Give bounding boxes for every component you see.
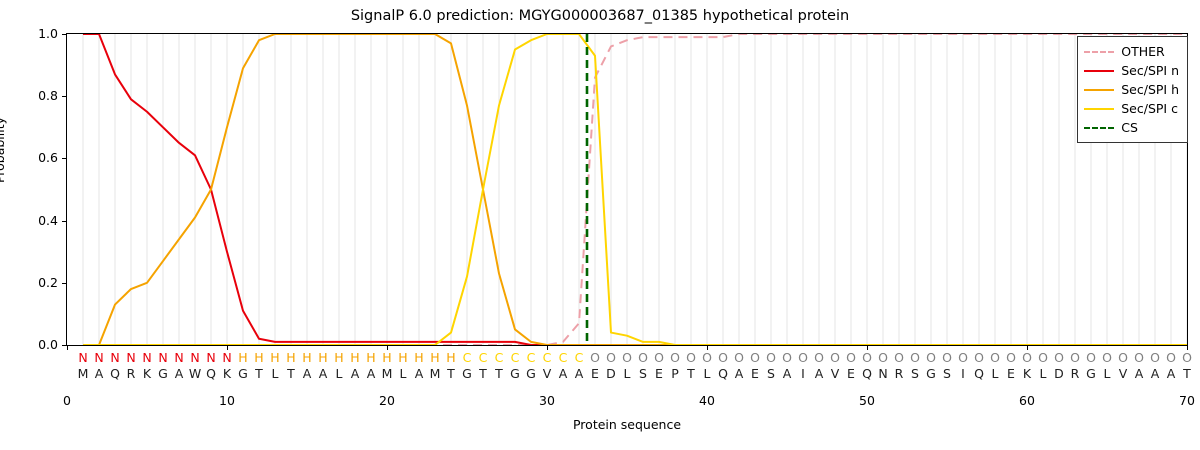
signalp-plot-figure: SignalP 6.0 prediction: MGYG000003687_01… [0, 0, 1200, 450]
plot-inner [67, 34, 1187, 345]
chart-canvas [67, 34, 1187, 345]
chart-title: SignalP 6.0 prediction: MGYG000003687_01… [0, 8, 1200, 24]
x-tick-mark [67, 346, 68, 350]
legend-swatch [1084, 89, 1114, 91]
x-tick-label: 0 [63, 393, 71, 408]
legend-item[interactable]: Sec/SPI c [1084, 99, 1179, 118]
series-line-sec-spi-n [83, 34, 1187, 345]
y-tick-label: 0.2 [0, 275, 58, 290]
annotation-letter: O [1177, 350, 1197, 365]
series-line-other [83, 34, 1187, 345]
series-line-sec-spi-h [83, 34, 1187, 345]
y-tick-label: 0.6 [0, 150, 58, 165]
legend: OTHERSec/SPI nSec/SPI hSec/SPI cCS [1077, 36, 1188, 143]
x-tick-label: 30 [539, 393, 555, 408]
x-tick-label: 50 [859, 393, 875, 408]
legend-item[interactable]: CS [1084, 118, 1179, 137]
x-tick-label: 10 [219, 393, 235, 408]
legend-label: OTHER [1121, 43, 1164, 60]
legend-swatch [1084, 127, 1114, 129]
legend-swatch [1084, 70, 1114, 72]
y-tick-label: 0.4 [0, 213, 58, 228]
legend-label: Sec/SPI n [1121, 62, 1179, 79]
legend-label: Sec/SPI c [1121, 100, 1178, 117]
x-tick-label: 60 [1019, 393, 1035, 408]
x-tick-label: 20 [379, 393, 395, 408]
x-tick-label: 70 [1179, 393, 1195, 408]
y-tick-label: 0.8 [0, 88, 58, 103]
series-line-sec-spi-c [83, 34, 1187, 345]
legend-swatch [1084, 51, 1114, 53]
x-tick-label: 40 [699, 393, 715, 408]
y-tick-label: 1.0 [0, 26, 58, 41]
x-axis-label: Protein sequence [66, 417, 1188, 432]
legend-label: Sec/SPI h [1121, 81, 1179, 98]
legend-item[interactable]: OTHER [1084, 42, 1179, 61]
legend-item[interactable]: Sec/SPI n [1084, 61, 1179, 80]
legend-swatch [1084, 108, 1114, 110]
y-tick-label: 0.0 [0, 337, 58, 352]
legend-item[interactable]: Sec/SPI h [1084, 80, 1179, 99]
legend-label: CS [1121, 119, 1138, 136]
sequence-letter: T [1177, 366, 1197, 381]
plot-area [66, 33, 1188, 346]
